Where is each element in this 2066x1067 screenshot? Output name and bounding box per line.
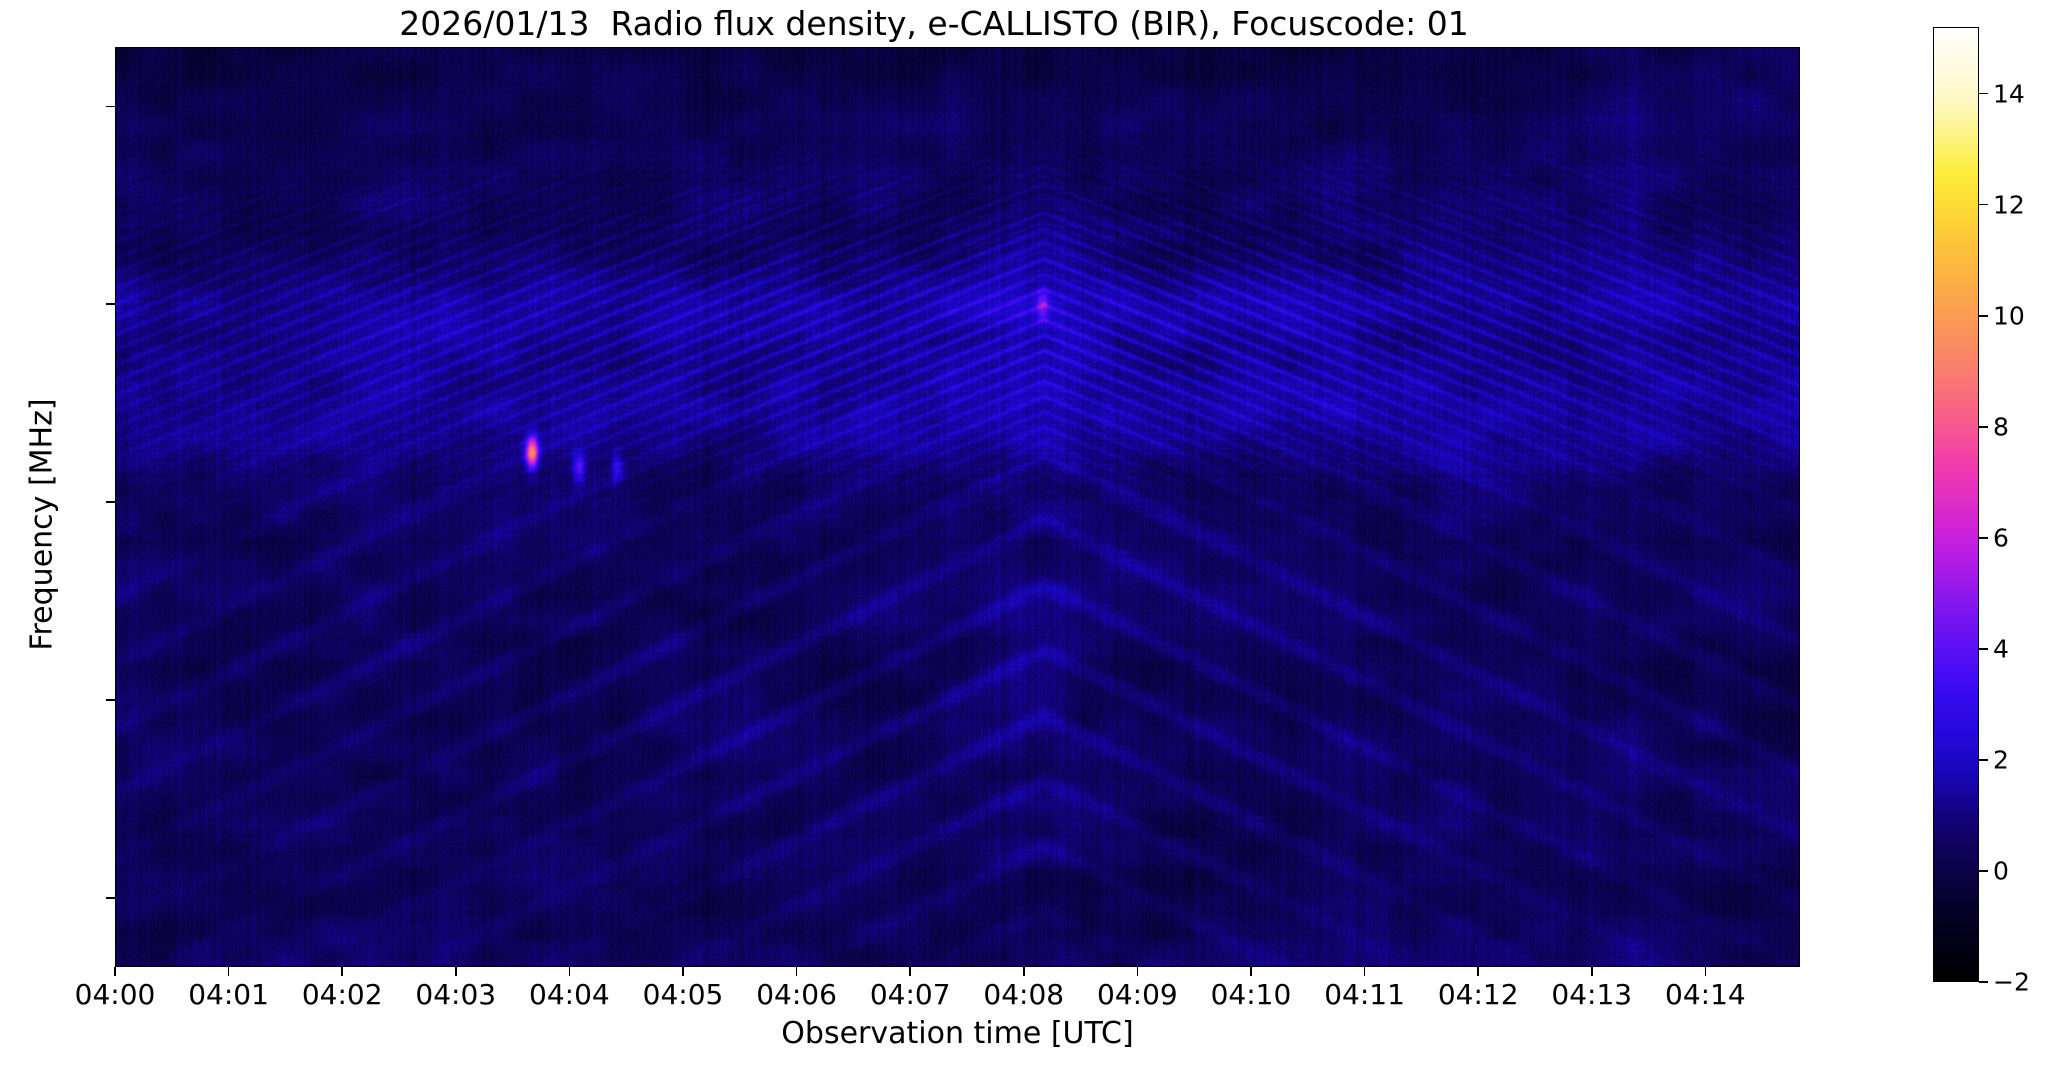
y-tick-mark bbox=[106, 501, 115, 503]
y-axis-label: Frequency [MHz] bbox=[25, 65, 60, 985]
x-tick-label: 04:12 bbox=[1438, 978, 1519, 1011]
x-tick-mark bbox=[796, 967, 798, 976]
spectrogram-canvas bbox=[116, 48, 1799, 966]
colorbar-tick-mark bbox=[1979, 759, 1988, 761]
x-tick-mark bbox=[1591, 967, 1593, 976]
x-tick-mark bbox=[682, 967, 684, 976]
spectrogram-image bbox=[116, 48, 1799, 966]
colorbar-tick-mark bbox=[1979, 981, 1988, 983]
colorbar-tick-mark bbox=[1979, 648, 1988, 650]
x-tick-label: 04:02 bbox=[302, 978, 383, 1011]
colorbar-tick-mark bbox=[1979, 426, 1988, 428]
x-tick-mark bbox=[1250, 967, 1252, 976]
x-tick-mark bbox=[909, 967, 911, 976]
x-tick-mark bbox=[1364, 967, 1366, 976]
colorbar-tick-mark bbox=[1979, 315, 1988, 317]
y-tick-mark bbox=[106, 699, 115, 701]
spectrogram-figure: 2026/01/13 Radio flux density, e-CALLIST… bbox=[0, 0, 2066, 1067]
x-tick-mark bbox=[1023, 967, 1025, 976]
colorbar-tick-label: 2 bbox=[1993, 745, 2009, 774]
colorbar-tick-label: 12 bbox=[1993, 190, 2025, 219]
x-tick-label: 04:04 bbox=[529, 978, 610, 1011]
y-axis-label-container: Frequency [MHz] bbox=[12, 47, 52, 967]
x-axis-label: Observation time [UTC] bbox=[115, 1016, 1800, 1051]
colorbar-tick-label: 10 bbox=[1993, 301, 2025, 330]
colorbar-tick-label: 14 bbox=[1993, 79, 2025, 108]
colorbar-tick-mark bbox=[1979, 204, 1988, 206]
x-tick-label: 04:05 bbox=[643, 978, 724, 1011]
colorbar[interactable] bbox=[1933, 27, 1979, 982]
x-tick-mark bbox=[1137, 967, 1139, 976]
colorbar-tick-label: 0 bbox=[1993, 856, 2009, 885]
colorbar-tick-mark bbox=[1979, 93, 1988, 95]
y-tick-mark bbox=[106, 106, 115, 108]
page-title: 2026/01/13 Radio flux density, e-CALLIST… bbox=[0, 4, 1868, 43]
colorbar-tick-label: 8 bbox=[1993, 412, 2009, 441]
colorbar-gradient bbox=[1934, 28, 1978, 981]
x-tick-label: 04:00 bbox=[75, 978, 156, 1011]
y-tick-mark bbox=[106, 303, 115, 305]
colorbar-tick-label: −2 bbox=[1993, 968, 2030, 997]
colorbar-tick-mark bbox=[1979, 870, 1988, 872]
x-tick-label: 04:07 bbox=[870, 978, 951, 1011]
x-tick-mark bbox=[1705, 967, 1707, 976]
x-tick-mark bbox=[114, 967, 116, 976]
x-tick-mark bbox=[569, 967, 571, 976]
x-tick-mark bbox=[228, 967, 230, 976]
x-tick-mark bbox=[341, 967, 343, 976]
y-tick-mark bbox=[106, 897, 115, 899]
colorbar-label-container: dB above background bbox=[2030, 27, 2066, 982]
x-tick-mark bbox=[455, 967, 457, 976]
x-tick-label: 04:03 bbox=[415, 978, 496, 1011]
colorbar-tick-mark bbox=[1979, 537, 1988, 539]
x-tick-label: 04:11 bbox=[1324, 978, 1405, 1011]
x-tick-label: 04:06 bbox=[756, 978, 837, 1011]
x-tick-label: 04:01 bbox=[188, 978, 269, 1011]
x-tick-label: 04:09 bbox=[1097, 978, 1178, 1011]
x-tick-label: 04:13 bbox=[1551, 978, 1632, 1011]
plot-area[interactable] bbox=[115, 47, 1800, 967]
colorbar-tick-label: 4 bbox=[1993, 634, 2009, 663]
x-tick-mark bbox=[1477, 967, 1479, 976]
x-tick-label: 04:10 bbox=[1211, 978, 1292, 1011]
colorbar-tick-label: 6 bbox=[1993, 523, 2009, 552]
x-tick-label: 04:08 bbox=[983, 978, 1064, 1011]
x-tick-label: 04:14 bbox=[1665, 978, 1746, 1011]
